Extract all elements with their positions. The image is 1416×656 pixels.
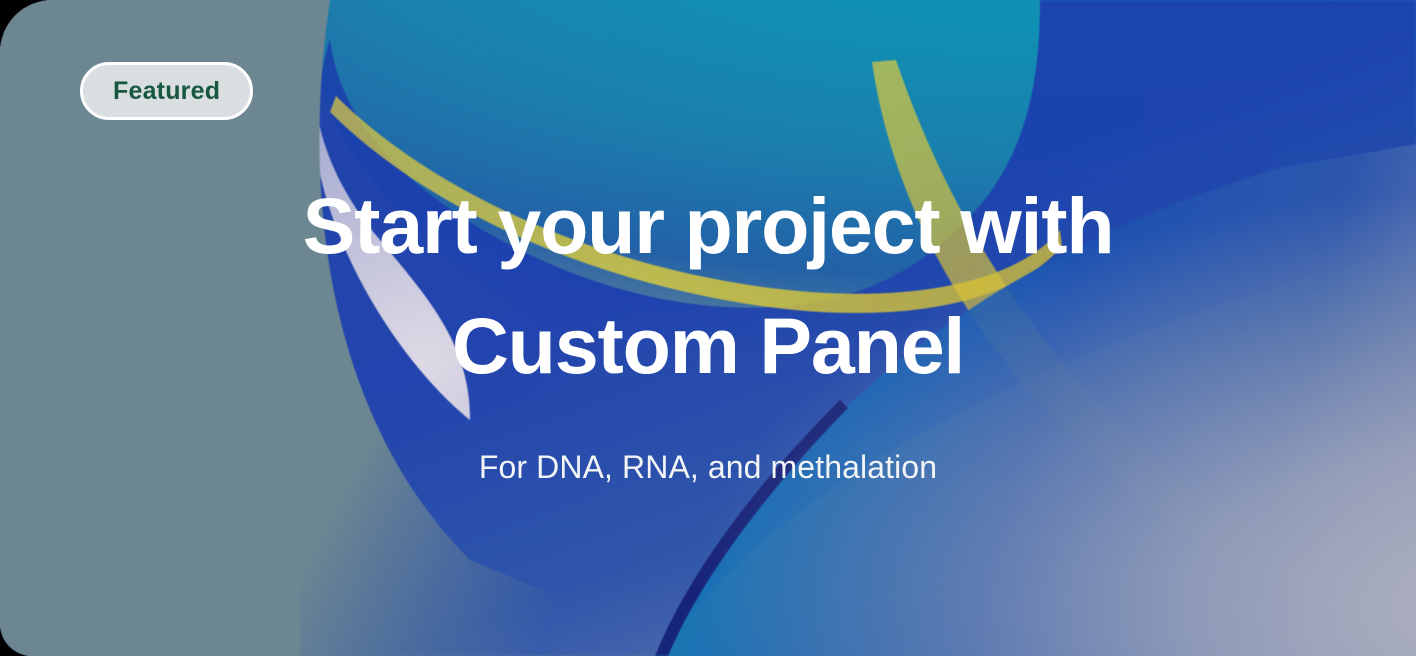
hero-content: Featured Start your project with Custom … [0,0,1416,656]
hero-subtitle: For DNA, RNA, and methalation [0,449,1416,486]
hero-headline: Start your project with Custom Panel [0,166,1416,406]
featured-badge-label: Featured [113,77,220,106]
featured-badge[interactable]: Featured [80,62,253,120]
hero-headline-line-2: Custom Panel [0,286,1416,406]
featured-hero-banner[interactable]: Featured Start your project with Custom … [0,0,1416,656]
hero-headline-line-1: Start your project with [0,166,1416,286]
